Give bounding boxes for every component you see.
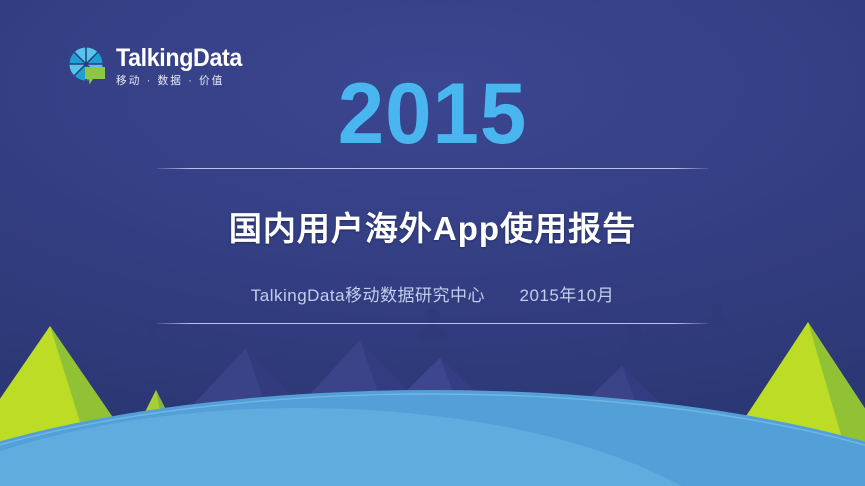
globe-horizon (0, 390, 865, 486)
divider-top (157, 168, 708, 169)
title-text-block: 2015 国内用户海外App使用报告 TalkingData移动数据研究中心 2… (0, 0, 865, 324)
page-title: 国内用户海外App使用报告 (0, 202, 865, 250)
subtitle-source: TalkingData移动数据研究中心 (251, 286, 485, 305)
scenery-illustration (0, 296, 865, 486)
subtitle-line: TalkingData移动数据研究中心 2015年10月 (0, 281, 865, 306)
subtitle-date: 2015年10月 (520, 286, 615, 305)
year-heading: 2015 (13, 78, 852, 151)
title-slide: TalkingData 移动 · 数据 · 价值 2015 国内用户海外App使… (0, 0, 865, 486)
divider-bottom (157, 323, 708, 324)
